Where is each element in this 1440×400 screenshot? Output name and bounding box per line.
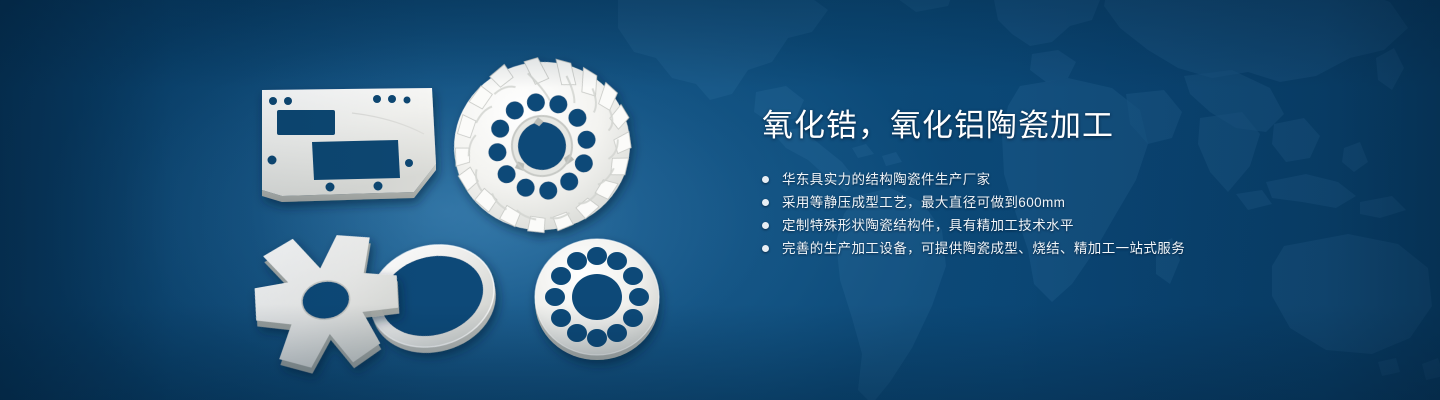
list-item: 华东具实力的结构陶瓷件生产厂家: [762, 168, 1402, 191]
bullet-dot-icon: [762, 176, 769, 183]
feature-text: 采用等静压成型工艺，最大直径可做到600mm: [782, 191, 1065, 214]
bullet-dot-icon: [762, 199, 769, 206]
bullet-dot-icon: [762, 245, 769, 252]
banner-copy: 氧化锆，氧化铝陶瓷加工 华东具实力的结构陶瓷件生产厂家 采用等静压成型工艺，最大…: [762, 104, 1402, 260]
list-item: 完善的生产加工设备，可提供陶瓷成型、烧结、精加工一站式服务: [762, 237, 1402, 260]
feature-text: 定制特殊形状陶瓷结构件，具有精加工技术水平: [782, 214, 1074, 237]
list-item: 定制特殊形状陶瓷结构件，具有精加工技术水平: [762, 214, 1402, 237]
feature-text: 华东具实力的结构陶瓷件生产厂家: [782, 168, 991, 191]
promo-banner: 氧化锆，氧化铝陶瓷加工 华东具实力的结构陶瓷件生产厂家 采用等静压成型工艺，最大…: [0, 0, 1440, 400]
bullet-dot-icon: [762, 222, 769, 229]
list-item: 采用等静压成型工艺，最大直径可做到600mm: [762, 191, 1402, 214]
feature-list: 华东具实力的结构陶瓷件生产厂家 采用等静压成型工艺，最大直径可做到600mm 定…: [762, 168, 1402, 260]
feature-text: 完善的生产加工设备，可提供陶瓷成型、烧结、精加工一站式服务: [782, 237, 1185, 260]
banner-headline: 氧化锆，氧化铝陶瓷加工: [762, 104, 1402, 148]
